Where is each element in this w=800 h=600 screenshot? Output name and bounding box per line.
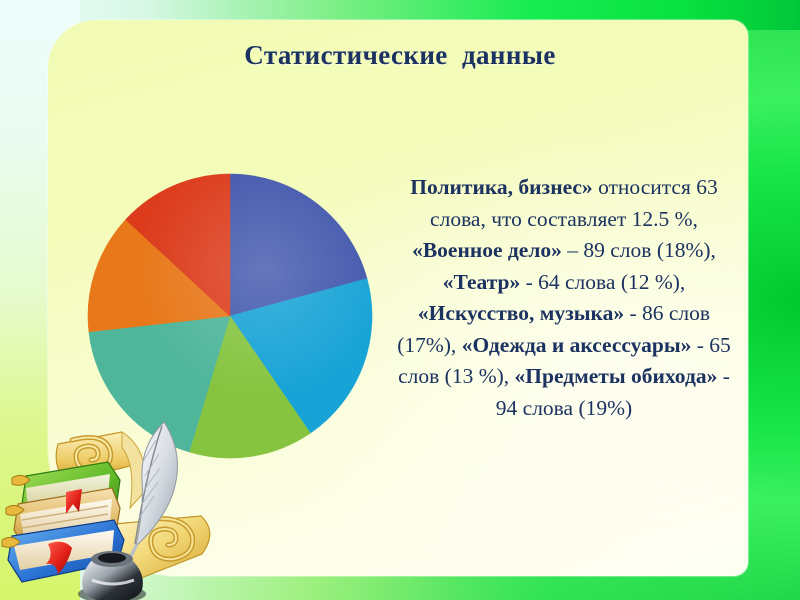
paragraph-segment: «Одежда и аксессуары» bbox=[462, 333, 692, 357]
paragraph-segment: «Предметы обихода» bbox=[515, 364, 718, 388]
paragraph-segment: Политика, бизнес» bbox=[410, 175, 592, 199]
paragraph-segment: «Военное дело» bbox=[412, 238, 562, 262]
paragraph-segment: - 64 слова (12 %), bbox=[520, 270, 685, 294]
page-title: Статистические данные bbox=[120, 40, 680, 71]
slide-canvas: Статистические данные Политика, бизнес» … bbox=[0, 0, 800, 600]
statistics-paragraph: Политика, бизнес» относится 63 слова, чт… bbox=[392, 172, 736, 424]
paragraph-segment: «Театр» bbox=[443, 270, 521, 294]
books-scroll-quill-inkwell-illustration bbox=[0, 404, 242, 600]
paragraph-segment: «Искусство, музыка» bbox=[418, 301, 624, 325]
paragraph-segment: – 89 слов (18%), bbox=[562, 238, 716, 262]
